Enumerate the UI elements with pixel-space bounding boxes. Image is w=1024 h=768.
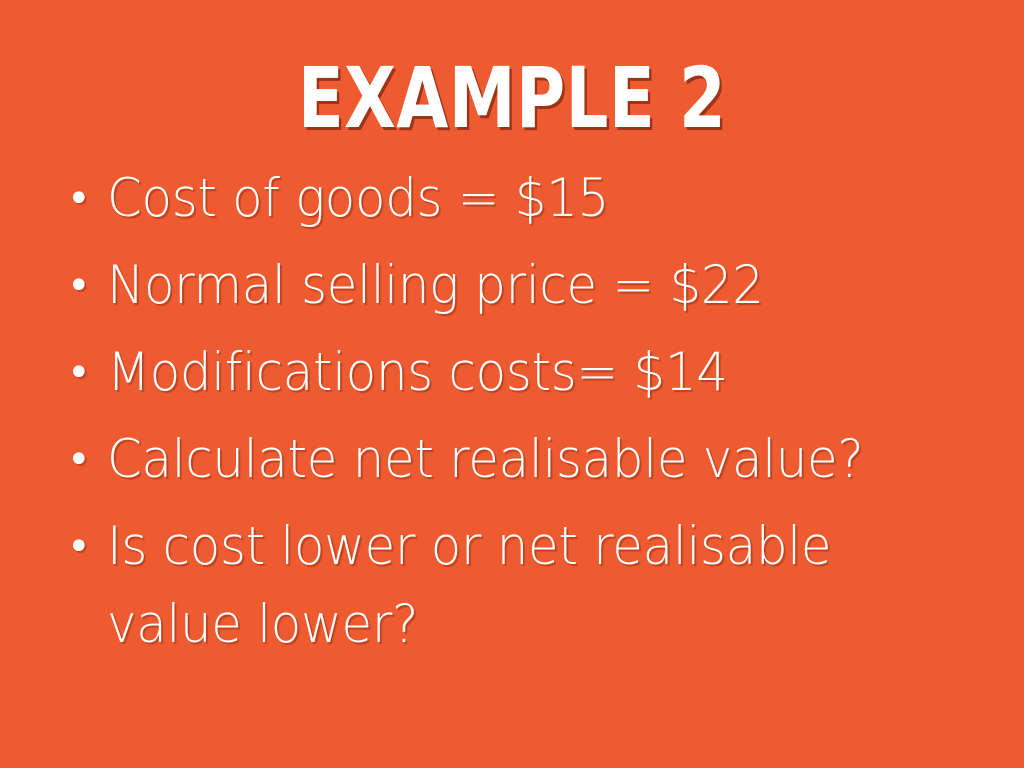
list-item: • Is cost lower or net realisable value … [55, 508, 995, 664]
bullet-text: Is cost lower or net realisable value lo… [107, 508, 942, 664]
list-item: • Normal selling price = $22 [55, 247, 995, 325]
bullet-point-icon: • [55, 508, 107, 586]
bullet-point-icon: • [55, 421, 107, 499]
slide-title: EXAMPLE 2 [102, 56, 921, 140]
bullet-point-icon: • [55, 334, 107, 412]
presentation-slide: EXAMPLE 2 • Cost of goods = $15 • Normal… [0, 0, 1024, 768]
bullet-list: • Cost of goods = $15 • Normal selling p… [55, 160, 995, 673]
bullet-text: Modifications costs= $14 [107, 334, 942, 412]
bullet-text: Calculate net realisable value? [107, 421, 942, 499]
list-item: • Modifications costs= $14 [55, 334, 995, 412]
bullet-text: Normal selling price = $22 [107, 247, 942, 325]
bullet-point-icon: • [55, 247, 107, 325]
list-item: • Cost of goods = $15 [55, 160, 995, 238]
list-item: • Calculate net realisable value? [55, 421, 995, 499]
bullet-point-icon: • [55, 160, 107, 238]
bullet-text: Cost of goods = $15 [107, 160, 942, 238]
